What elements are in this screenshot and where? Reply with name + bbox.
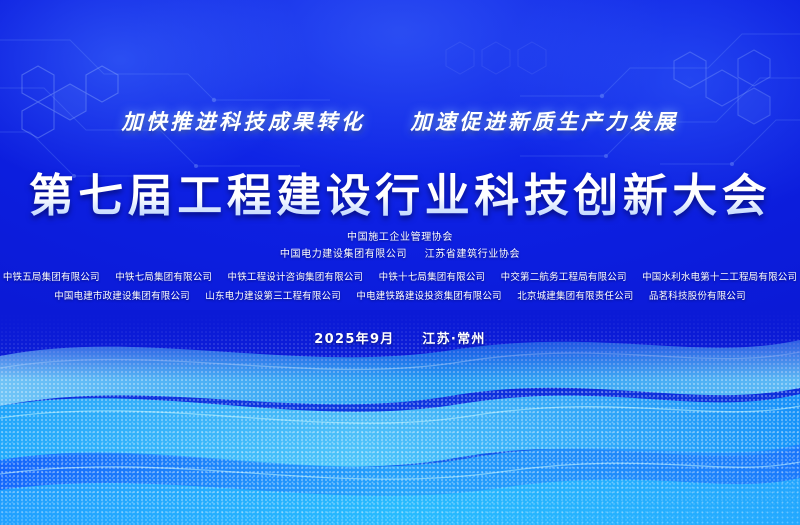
tagline: 加快推进科技成果转化 加速促进新质生产力发展 bbox=[0, 106, 800, 136]
sponsor-item: 山东电力建设第三工程有限公司 bbox=[205, 291, 341, 302]
organizer-2a: 中国电力建设集团有限公司 bbox=[280, 249, 407, 260]
sponsor-item: 中国电建市政建设集团有限公司 bbox=[54, 291, 190, 302]
sponsor-item: 中铁五局集团有限公司 bbox=[3, 272, 100, 283]
organizer-line-1: 中国施工企业管理协会 bbox=[0, 230, 800, 246]
event-location: 江苏·常州 bbox=[422, 332, 485, 347]
sponsor-item: 中电建铁路建设投资集团有限公司 bbox=[356, 291, 501, 302]
tagline-right: 加速促进新质生产力发展 bbox=[410, 110, 678, 134]
sponsor-item: 北京城建集团有限责任公司 bbox=[517, 291, 633, 302]
sponsor-item: 中铁七局集团有限公司 bbox=[115, 272, 212, 283]
event-date: 2025年9月 bbox=[314, 332, 394, 347]
organizer-block: 中国施工企业管理协会 中国电力建设集团有限公司 江苏省建筑行业协会 bbox=[0, 230, 800, 262]
sponsor-item: 中铁十七局集团有限公司 bbox=[379, 272, 486, 283]
sponsor-row-1: 中铁五局集团有限公司 中铁七局集团有限公司 中铁工程设计咨询集团有限公司 中铁十… bbox=[0, 268, 800, 287]
sponsor-item: 中交第二航务工程局有限公司 bbox=[501, 272, 627, 283]
sponsor-row-2: 中国电建市政建设集团有限公司 山东电力建设第三工程有限公司 中电建铁路建设投资集… bbox=[0, 287, 800, 306]
organizer-2b: 江苏省建筑行业协会 bbox=[425, 249, 520, 260]
tagline-left: 加快推进科技成果转化 bbox=[122, 110, 366, 134]
organizer-line-2: 中国电力建设集团有限公司 江苏省建筑行业协会 bbox=[0, 247, 800, 263]
page-title: 第七届工程建设行业科技创新大会 bbox=[0, 172, 800, 219]
sponsor-block: 中铁五局集团有限公司 中铁七局集团有限公司 中铁工程设计咨询集团有限公司 中铁十… bbox=[0, 268, 800, 306]
sponsor-item: 中国水利水电第十二工程局有限公司 bbox=[642, 272, 797, 283]
sponsor-item: 中铁工程设计咨询集团有限公司 bbox=[228, 272, 364, 283]
sponsor-item: 品茗科技股份有限公司 bbox=[649, 291, 746, 302]
date-location-bar: 2025年9月 江苏·常州 bbox=[0, 328, 800, 347]
conference-poster: 加快推进科技成果转化 加速促进新质生产力发展 第七届工程建设行业科技创新大会 中… bbox=[0, 0, 800, 525]
